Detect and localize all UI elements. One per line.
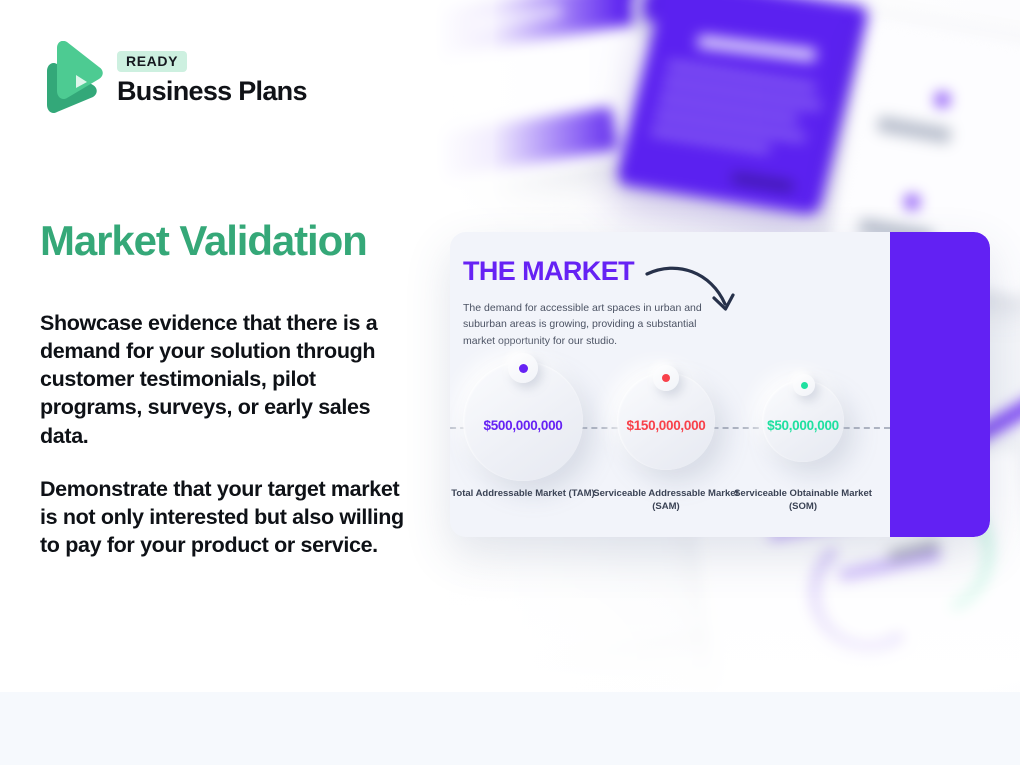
brand-logo-text: READY Business Plans [117, 51, 307, 105]
market-size-chart: $500,000,000 Total Addressable Market (T… [450, 232, 890, 537]
left-content-column: READY Business Plans Market Validation S… [0, 0, 440, 692]
market-dot-purple-icon [519, 364, 528, 373]
ready-badge: READY [117, 51, 187, 72]
page-title: Market Validation [40, 218, 440, 263]
market-caption-label: Serviceable Obtainable Market (SOM) [728, 488, 878, 513]
market-caption-label: Total Addressable Market (TAM) [450, 488, 598, 501]
bubble-knob [793, 374, 815, 396]
background-slide-the-problem [615, 0, 870, 216]
placeholder-dot [903, 193, 920, 210]
bottom-strip [0, 692, 1020, 765]
slide-stage: READY Business Plans Market Validation S… [0, 0, 1020, 765]
market-dot-green-icon [801, 382, 808, 389]
bubble-knob [508, 353, 538, 383]
brand-name: Business Plans [117, 78, 307, 105]
body-paragraph-1: Showcase evidence that there is a demand… [40, 309, 418, 450]
placeholder-footer-bar [731, 173, 795, 191]
card-accent-bar [890, 232, 990, 537]
placeholder-title-bar [697, 35, 818, 62]
market-value-label: $500,000,000 [450, 418, 598, 433]
market-dot-red-icon [662, 374, 670, 382]
placeholder-dot [934, 91, 951, 108]
placeholder-bar [876, 116, 952, 145]
bubble-knob [653, 365, 679, 391]
market-value-label: $50,000,000 [728, 418, 878, 433]
market-caption-label: Serviceable Addressable Market (SAM) [591, 488, 741, 513]
play-triangle-logo-icon [41, 41, 103, 115]
brand-logo: READY Business Plans [41, 41, 307, 115]
market-value-label: $150,000,000 [591, 418, 741, 433]
market-slide-card: THE MARKET The demand for accessible art… [450, 232, 990, 537]
body-paragraph-2: Demonstrate that your target market is n… [40, 475, 418, 559]
